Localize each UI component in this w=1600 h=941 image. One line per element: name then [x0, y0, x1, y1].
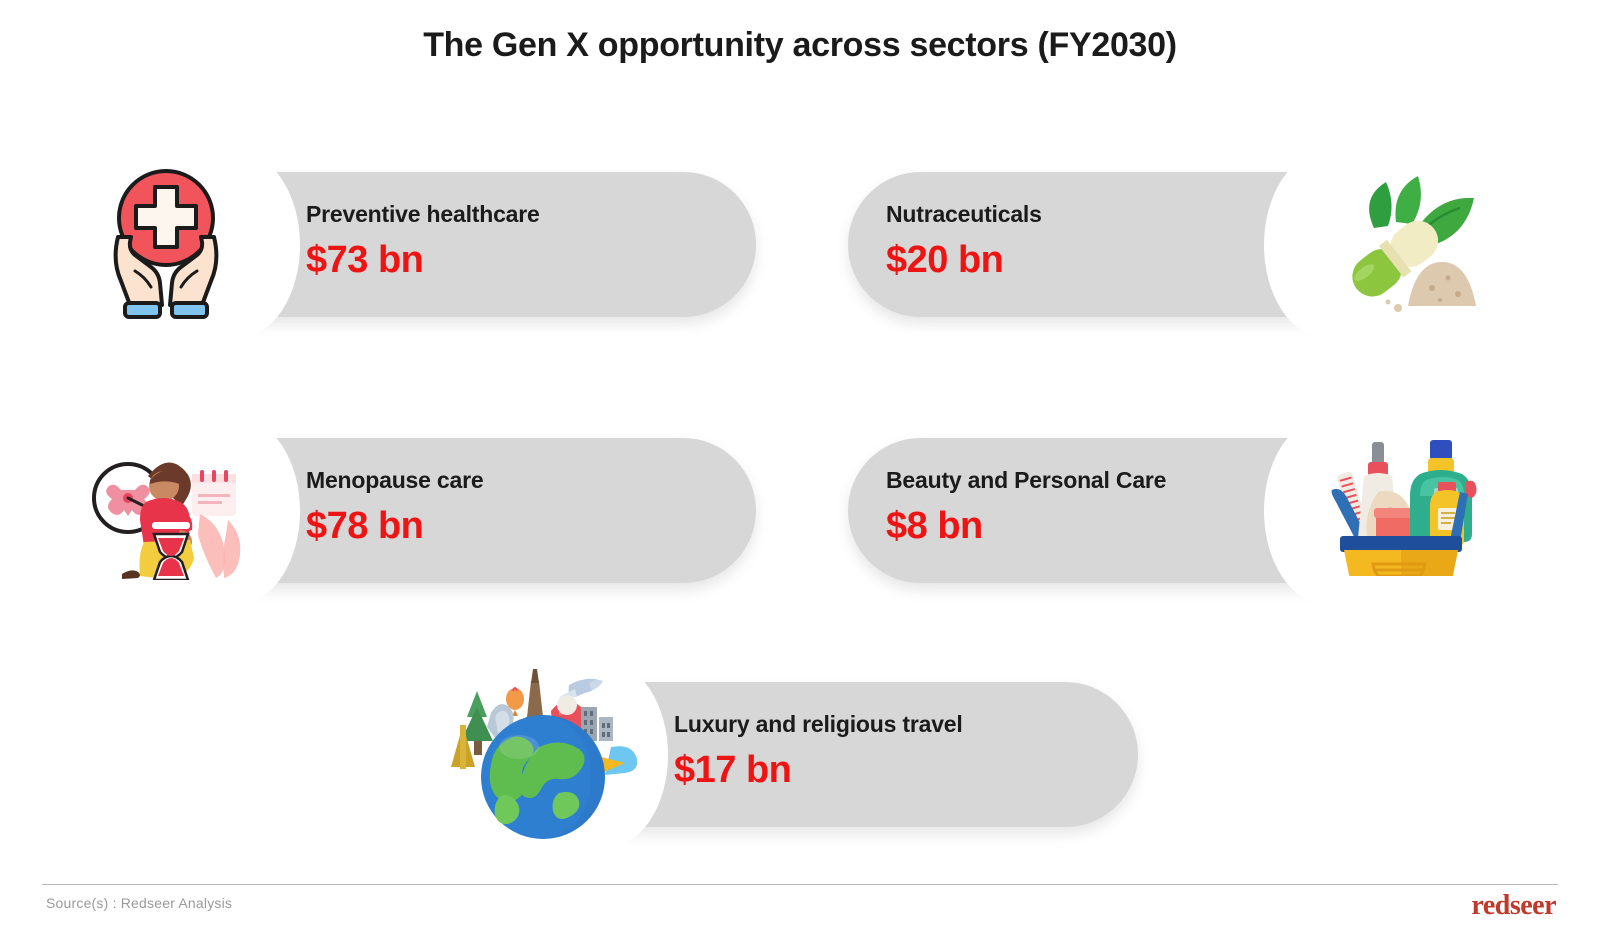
- herbal-capsule-leaves-icon: [1312, 166, 1480, 318]
- card-label: Beauty and Personal Care: [886, 467, 1166, 494]
- card-label: Luxury and religious travel: [674, 711, 963, 738]
- sector-card-nutraceuticals[interactable]: Nutraceuticals $20 bn: [848, 172, 1326, 317]
- card-text-block: Preventive healthcare $73 bn: [306, 201, 540, 282]
- hands-medical-cross-icon: [92, 163, 240, 323]
- card-value: $8 bn: [886, 505, 1166, 548]
- toiletries-basket-icon: [1318, 418, 1480, 576]
- card-value: $78 bn: [306, 505, 483, 548]
- card-text-block: Menopause care $78 bn: [306, 467, 483, 548]
- sector-card-beauty-personal-care[interactable]: Beauty and Personal Care $8 bn: [848, 438, 1326, 583]
- woman-clock-hourglass-icon: [88, 418, 248, 580]
- footer-divider: [42, 884, 1558, 885]
- card-text-block: Luxury and religious travel $17 bn: [674, 711, 963, 792]
- card-text-block: Nutraceuticals $20 bn: [886, 201, 1042, 282]
- sector-card-preventive-healthcare[interactable]: Preventive healthcare $73 bn: [238, 172, 756, 317]
- card-label: Nutraceuticals: [886, 201, 1042, 228]
- card-label: Preventive healthcare: [306, 201, 540, 228]
- sector-card-menopause-care[interactable]: Menopause care $78 bn: [238, 438, 756, 583]
- card-value: $20 bn: [886, 239, 1042, 282]
- card-value: $73 bn: [306, 239, 540, 282]
- page-title: The Gen X opportunity across sectors (FY…: [0, 26, 1600, 65]
- sector-card-luxury-religious-travel[interactable]: Luxury and religious travel $17 bn: [606, 682, 1138, 827]
- globe-landmarks-icon: [443, 655, 643, 847]
- card-label: Menopause care: [306, 467, 483, 494]
- source-note: Source(s) : Redseer Analysis: [46, 895, 232, 911]
- card-text-block: Beauty and Personal Care $8 bn: [886, 467, 1166, 548]
- card-value: $17 bn: [674, 749, 963, 792]
- redseer-logo: redseer: [1471, 892, 1556, 920]
